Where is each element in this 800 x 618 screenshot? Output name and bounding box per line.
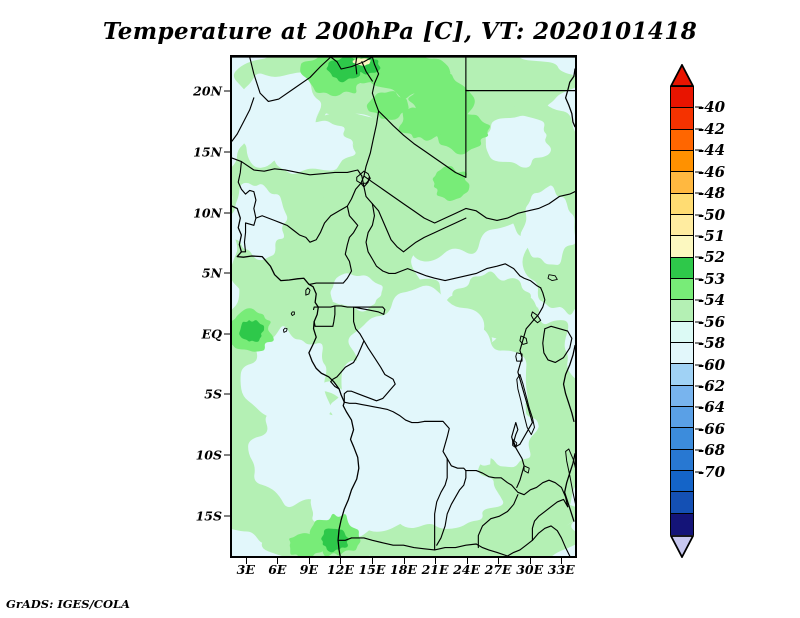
colorbar-band — [671, 343, 693, 364]
colorbar-band — [671, 428, 693, 449]
y-tick-mark — [224, 91, 230, 92]
colorbar-band — [671, 407, 693, 428]
colorbar-band — [671, 258, 693, 279]
y-tick-label: 5N — [0, 266, 222, 281]
y-tick-label: 10S — [0, 447, 222, 462]
colorbar-band — [671, 215, 693, 236]
x-tick-label: 27E — [485, 562, 512, 577]
x-tick-label: 21E — [422, 562, 449, 577]
colorbar-tick-label: -62 — [698, 377, 725, 395]
y-tick-mark — [224, 212, 230, 213]
colorbar-band — [671, 450, 693, 471]
x-tick-label: 9E — [300, 562, 318, 577]
map-plot-area — [230, 55, 577, 558]
colorbar-tick-label: -58 — [698, 334, 725, 352]
colorbar-over-arrow-outline-icon — [670, 64, 694, 87]
colorbar-tick-label: -70 — [698, 463, 725, 481]
footer-credit: GrADS: IGES/COLA — [6, 597, 130, 611]
y-tick-mark — [224, 273, 230, 274]
colorbar-band — [671, 492, 693, 513]
figure-root: Temperature at 200hPa [C], VT: 202010141… — [0, 0, 800, 618]
y-tick-label: 15S — [0, 508, 222, 523]
y-tick-mark — [224, 151, 230, 152]
colorbar-band — [671, 151, 693, 172]
colorbar — [670, 64, 694, 558]
colorbar-tick-label: -54 — [698, 291, 725, 309]
colorbar-tick-label: -53 — [698, 270, 725, 288]
x-tick-label: 24E — [453, 562, 480, 577]
colorbar-band — [671, 279, 693, 300]
y-tick-mark — [224, 333, 230, 334]
colorbar-band — [671, 300, 693, 321]
colorbar-tick-label: -46 — [698, 163, 725, 181]
colorbar-band — [671, 108, 693, 129]
colorbar-tick-label: -48 — [698, 184, 725, 202]
colorbar-tick-label: -44 — [698, 141, 725, 159]
colorbar-tick-label: -68 — [698, 441, 725, 459]
colorbar-band — [671, 322, 693, 343]
colorbar-tick-label: -51 — [698, 227, 725, 245]
x-tick-label: 15E — [358, 562, 385, 577]
colorbar-tick-label: -40 — [698, 98, 725, 116]
colorbar-bands — [670, 86, 694, 536]
colorbar-tick-label: -64 — [698, 398, 725, 416]
y-tick-mark — [224, 515, 230, 516]
colorbar-band — [671, 87, 693, 108]
colorbar-band — [671, 514, 693, 535]
colorbar-band — [671, 386, 693, 407]
y-tick-label: 10N — [0, 205, 222, 220]
colorbar-tick-label: -50 — [698, 206, 725, 224]
x-tick-label: 12E — [327, 562, 354, 577]
colorbar-under-arrow-outline-icon — [670, 535, 694, 558]
x-tick-label: 3E — [237, 562, 255, 577]
page-title: Temperature at 200hPa [C], VT: 202010141… — [0, 18, 800, 45]
colorbar-band — [671, 471, 693, 492]
colorbar-band — [671, 236, 693, 257]
colorbar-band — [671, 194, 693, 215]
colorbar-band — [671, 130, 693, 151]
y-tick-mark — [224, 454, 230, 455]
x-tick-label: 18E — [390, 562, 417, 577]
map-canvas — [232, 57, 575, 556]
colorbar-tick-label: -60 — [698, 356, 725, 374]
colorbar-band — [671, 364, 693, 385]
y-tick-label: 20N — [0, 84, 222, 99]
y-tick-mark — [224, 394, 230, 395]
colorbar-band — [671, 172, 693, 193]
colorbar-tick-label: -56 — [698, 313, 725, 331]
x-tick-label: 33E — [548, 562, 575, 577]
colorbar-tick-label: -66 — [698, 420, 725, 438]
x-tick-label: 30E — [516, 562, 543, 577]
y-tick-label: 15N — [0, 144, 222, 159]
y-tick-label: EQ — [0, 326, 222, 341]
colorbar-tick-label: -52 — [698, 248, 725, 266]
y-tick-label: 5S — [0, 387, 222, 402]
colorbar-tick-label: -42 — [698, 120, 725, 138]
x-tick-label: 6E — [268, 562, 286, 577]
